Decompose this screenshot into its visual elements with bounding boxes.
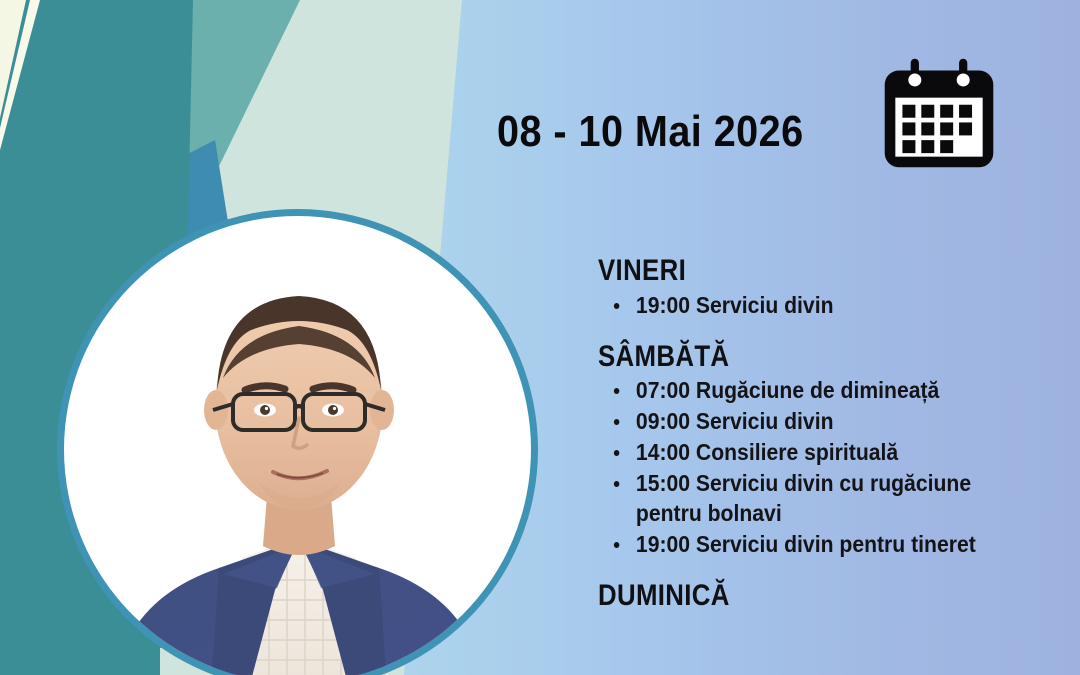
shape-cream-sliver-2	[0, 0, 40, 150]
speaker-portrait	[99, 238, 499, 675]
date-range-text: 08 - 10 Mai 2026	[497, 107, 804, 157]
schedule-item: 14:00 Consiliere spirituală	[612, 438, 986, 468]
day-items-vineri: 19:00 Serviciu divin	[598, 291, 1018, 321]
day-heading-vineri: VINERI	[598, 255, 959, 287]
day-items-sambata: 07:00 Rugăciune de dimineață 09:00 Servi…	[598, 376, 1018, 559]
day-block-vineri: VINERI 19:00 Serviciu divin	[598, 255, 1018, 321]
portrait-white-ring	[64, 216, 531, 675]
portrait-ring	[57, 209, 538, 675]
day-block-sambata: SÂMBĂTĂ 07:00 Rugăciune de dimineață 09:…	[598, 341, 1018, 560]
schedule-item-line: 19:00 Serviciu divin	[636, 291, 986, 321]
day-heading-duminica: DUMINICĂ	[598, 580, 959, 612]
schedule-item: 19:00 Serviciu divin	[612, 291, 986, 321]
shape-cream-sliver	[0, 0, 26, 118]
schedule-item-line: 19:00 Serviciu divin pentru tineret	[636, 530, 986, 560]
schedule-item-line: 07:00 Rugăciune de dimineață	[636, 376, 986, 406]
poster-canvas: 08 - 10 Mai 2026	[0, 0, 1080, 675]
schedule-item-line: pentru bolnavi	[636, 499, 986, 529]
schedule-item: 09:00 Serviciu divin	[612, 407, 986, 437]
schedule-item-line: 15:00 Serviciu divin cu rugăciune	[636, 469, 986, 499]
day-heading-sambata: SÂMBĂTĂ	[598, 341, 959, 373]
schedule-item: 07:00 Rugăciune de dimineață	[612, 376, 986, 406]
calendar-icon	[880, 54, 998, 172]
day-block-duminica: DUMINICĂ	[598, 580, 1018, 612]
schedule-item: 19:00 Serviciu divin pentru tineret	[612, 530, 986, 560]
schedule-item-line: 14:00 Consiliere spirituală	[636, 438, 986, 468]
date-header: 08 - 10 Mai 2026	[497, 92, 998, 172]
schedule-item-line: 09:00 Serviciu divin	[636, 407, 986, 437]
schedule-list: VINERI 19:00 Serviciu divin SÂMBĂTĂ 07:0…	[598, 255, 1018, 618]
schedule-item: 15:00 Serviciu divin cu rugăciune pentru…	[612, 469, 986, 529]
